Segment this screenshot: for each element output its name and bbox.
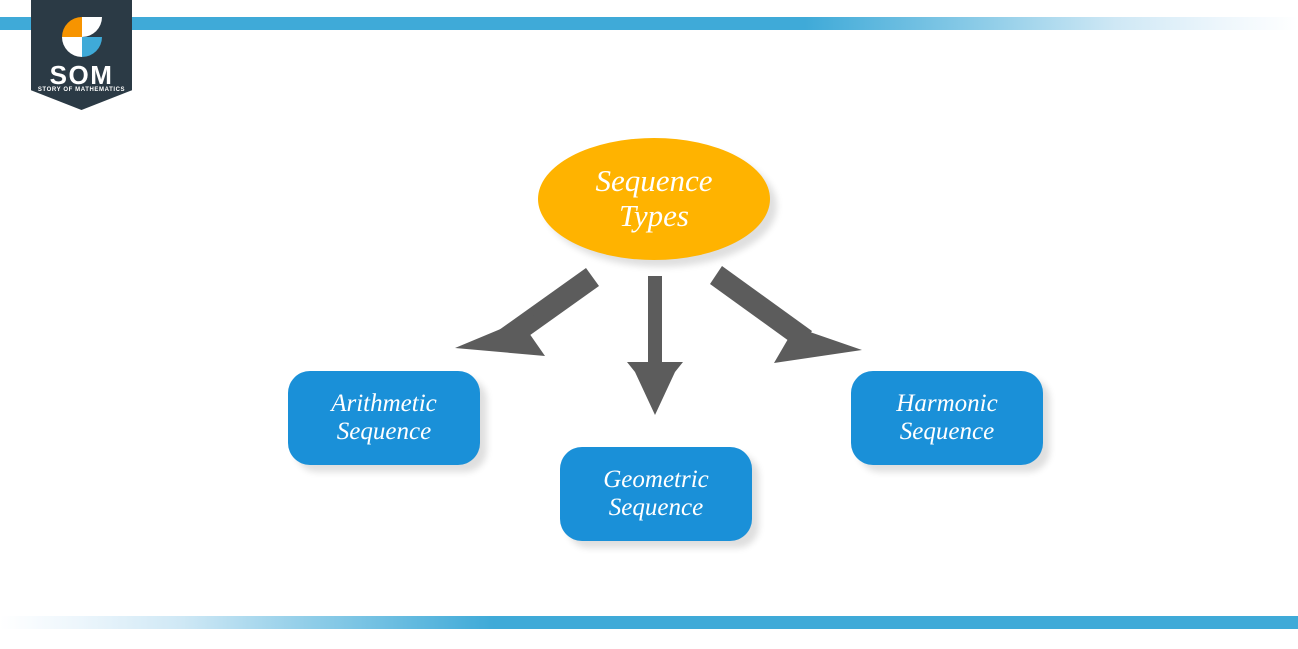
edge-arrow-harmonic [710, 266, 862, 363]
node-label-line2: Sequence [603, 494, 709, 522]
node-sequence-types[interactable]: Sequence Types [538, 138, 770, 260]
node-geometric-sequence[interactable]: Geometric Sequence [560, 447, 752, 541]
edge-arrow-geometric [627, 276, 683, 415]
node-sequence-types-label: Sequence Types [595, 164, 712, 233]
edge-arrows [0, 0, 1298, 649]
node-arithmetic-sequence[interactable]: Arithmetic Sequence [288, 371, 480, 465]
node-arithmetic-sequence-label: Arithmetic Sequence [331, 390, 437, 446]
node-label-line2: Sequence [896, 418, 997, 446]
node-label-line2: Sequence [331, 418, 437, 446]
node-harmonic-sequence[interactable]: Harmonic Sequence [851, 371, 1043, 465]
node-label-line1: Sequence [595, 164, 712, 199]
node-geometric-sequence-label: Geometric Sequence [603, 466, 709, 522]
edge-arrow-arithmetic [455, 268, 599, 356]
node-harmonic-sequence-label: Harmonic Sequence [896, 390, 997, 446]
node-label-line1: Geometric [603, 466, 709, 494]
node-label-line2: Types [595, 199, 712, 234]
node-label-line1: Harmonic [896, 390, 997, 418]
diagram-canvas: SOM STORY OF MATHEMATICS Sequence Types … [0, 0, 1298, 649]
node-label-line1: Arithmetic [331, 390, 437, 418]
